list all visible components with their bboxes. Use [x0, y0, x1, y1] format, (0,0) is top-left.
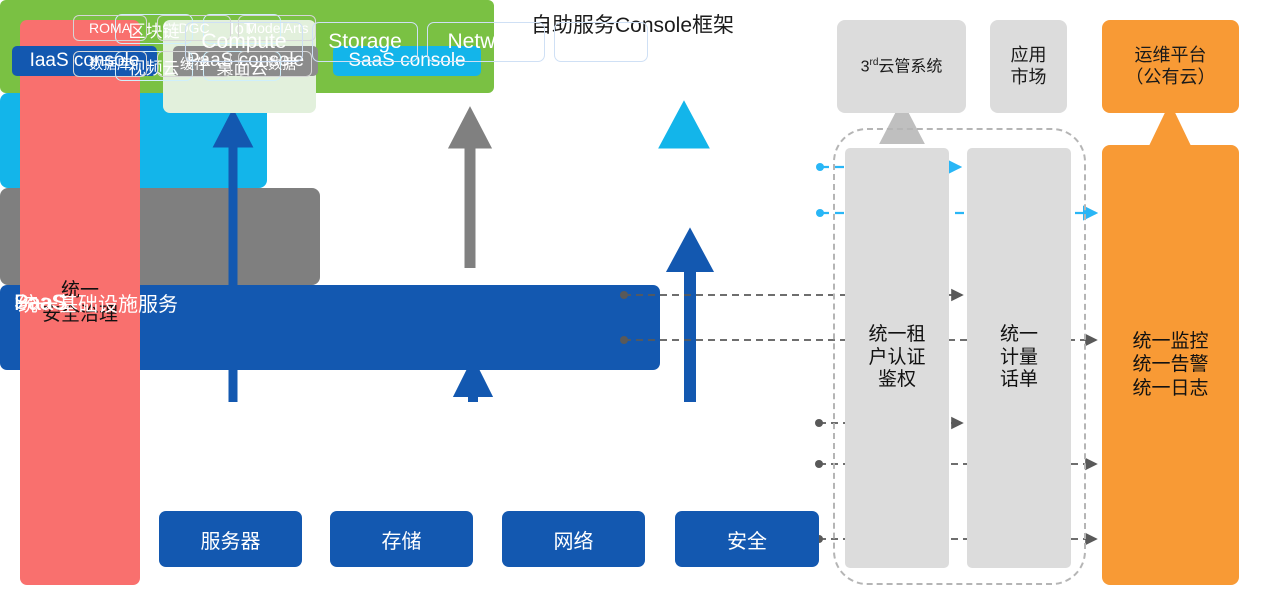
hardware-network-box[interactable]: 网络: [502, 511, 645, 567]
unified-infrastructure-service[interactable]: 统一基础设施服务 Compute Storage Network CCE: [0, 285, 660, 370]
metering-line-1: 统一: [1000, 324, 1038, 347]
infrastructure-label: 统一基础设施服务: [18, 0, 178, 605]
third-party-cloud-management-box[interactable]: 3rd云管系统: [837, 20, 966, 113]
arrow-omcolumn-to-omplatform: [1158, 116, 1182, 145]
om-platform-public-cloud-box[interactable]: 运维平台 （公有云）: [1102, 20, 1239, 113]
om-column-line-3: 统一日志: [1132, 377, 1208, 400]
arrow-infra-to-paas: [461, 368, 485, 402]
infra-chip-cce[interactable]: CCE: [554, 22, 648, 62]
om-column-line-1: 统一监控: [1132, 330, 1208, 353]
om-platform-line-1: 运维平台: [1126, 45, 1216, 67]
om-platform-line-2: （公有云）: [1126, 67, 1216, 89]
app-market-box[interactable]: 应用 市场: [990, 20, 1067, 113]
unified-monitoring-column[interactable]: 统一监控 统一告警 统一日志: [1102, 145, 1239, 585]
architecture-diagram: 统一租 户认证 鉴权 统一 计量 话单 统一 安全治理 API网关 自助服务Co…: [0, 0, 1265, 605]
unified-tenant-auth-column[interactable]: 统一租 户认证 鉴权: [845, 148, 949, 568]
third-party-label: 3rd云管系统: [861, 57, 943, 77]
auth-line-3: 鉴权: [868, 369, 925, 392]
arrow-saas-to-console: [669, 114, 699, 145]
app-market-line-1: 应用: [1011, 45, 1047, 67]
infra-chip-network[interactable]: Network: [427, 22, 545, 62]
hardware-server-box[interactable]: 服务器: [159, 511, 302, 567]
infra-chip-compute[interactable]: Compute: [185, 22, 303, 62]
app-market-line-2: 市场: [1011, 67, 1047, 89]
auth-line-2: 户认证: [868, 347, 925, 370]
arrow-infra-to-saas: [676, 240, 704, 402]
unified-metering-column[interactable]: 统一 计量 话单: [967, 148, 1071, 568]
hardware-security-box[interactable]: 安全: [675, 511, 819, 567]
om-column-line-2: 统一告警: [1132, 353, 1208, 376]
hardware-storage-box[interactable]: 存储: [330, 511, 473, 567]
infra-chip-storage[interactable]: Storage: [312, 22, 418, 62]
auth-line-1: 统一租: [868, 324, 925, 347]
metering-line-2: 计量: [1000, 347, 1038, 370]
metering-line-3: 话单: [1000, 369, 1038, 392]
arrow-paas-to-console: [457, 118, 483, 268]
